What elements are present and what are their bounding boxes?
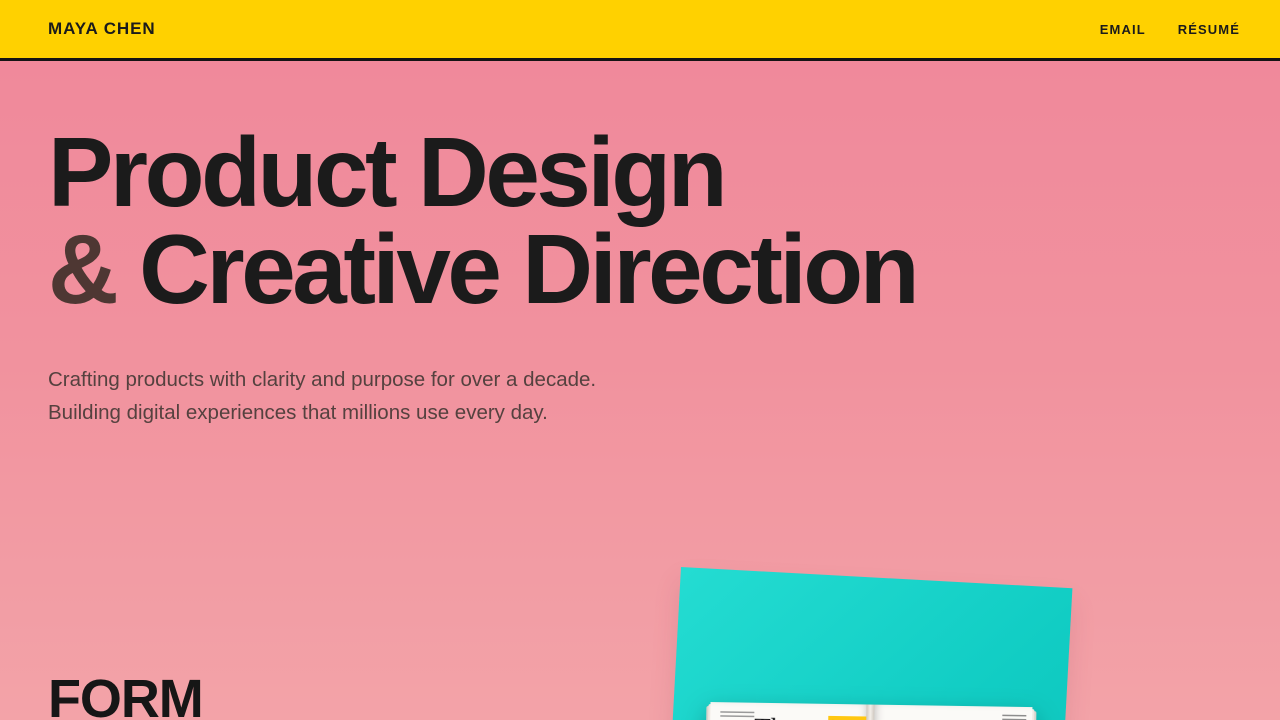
hero-ampersand: & (48, 214, 115, 324)
magazine-right-page (872, 705, 1033, 720)
hero-section: Product Design & Creative Direction Craf… (48, 61, 1048, 430)
magazine-yellow-sidebar (826, 716, 868, 720)
nav-item-email[interactable]: EMAIL (1100, 22, 1146, 37)
hero-subtitle: Crafting products with clarity and purpo… (48, 364, 1048, 430)
hero-subtitle-line-2: Building digital experiences that millio… (48, 397, 1048, 430)
hero-subtitle-line-1: Crafting products with clarity and purpo… (48, 364, 1048, 397)
magazine-spine (864, 704, 875, 720)
featured-project-card[interactable]: The ZIN (665, 567, 1073, 720)
nav-item-resume[interactable]: RÉSUMÉ (1178, 22, 1240, 37)
magazine-folio (1002, 715, 1026, 720)
work-section: FORM (48, 672, 203, 720)
hero-headline-line-1: Product Design (48, 124, 1048, 221)
hero-headline-line-2-text: Creative Direction (139, 214, 916, 324)
header-nav: EMAIL RÉSUMÉ (1100, 22, 1240, 37)
hero-headline: Product Design & Creative Direction (48, 124, 1048, 318)
magazine-kicker: The (754, 715, 796, 720)
magazine-running-head (720, 711, 754, 719)
magazine-left-page: The ZIN (708, 702, 869, 720)
brand-logo[interactable]: MAYA CHEN (48, 19, 156, 39)
work-section-title: FORM (48, 672, 203, 720)
magazine-photo: The ZIN (704, 702, 1037, 720)
hero-headline-line-2: & Creative Direction (48, 221, 1048, 318)
site-header: MAYA CHEN EMAIL RÉSUMÉ (0, 0, 1280, 61)
